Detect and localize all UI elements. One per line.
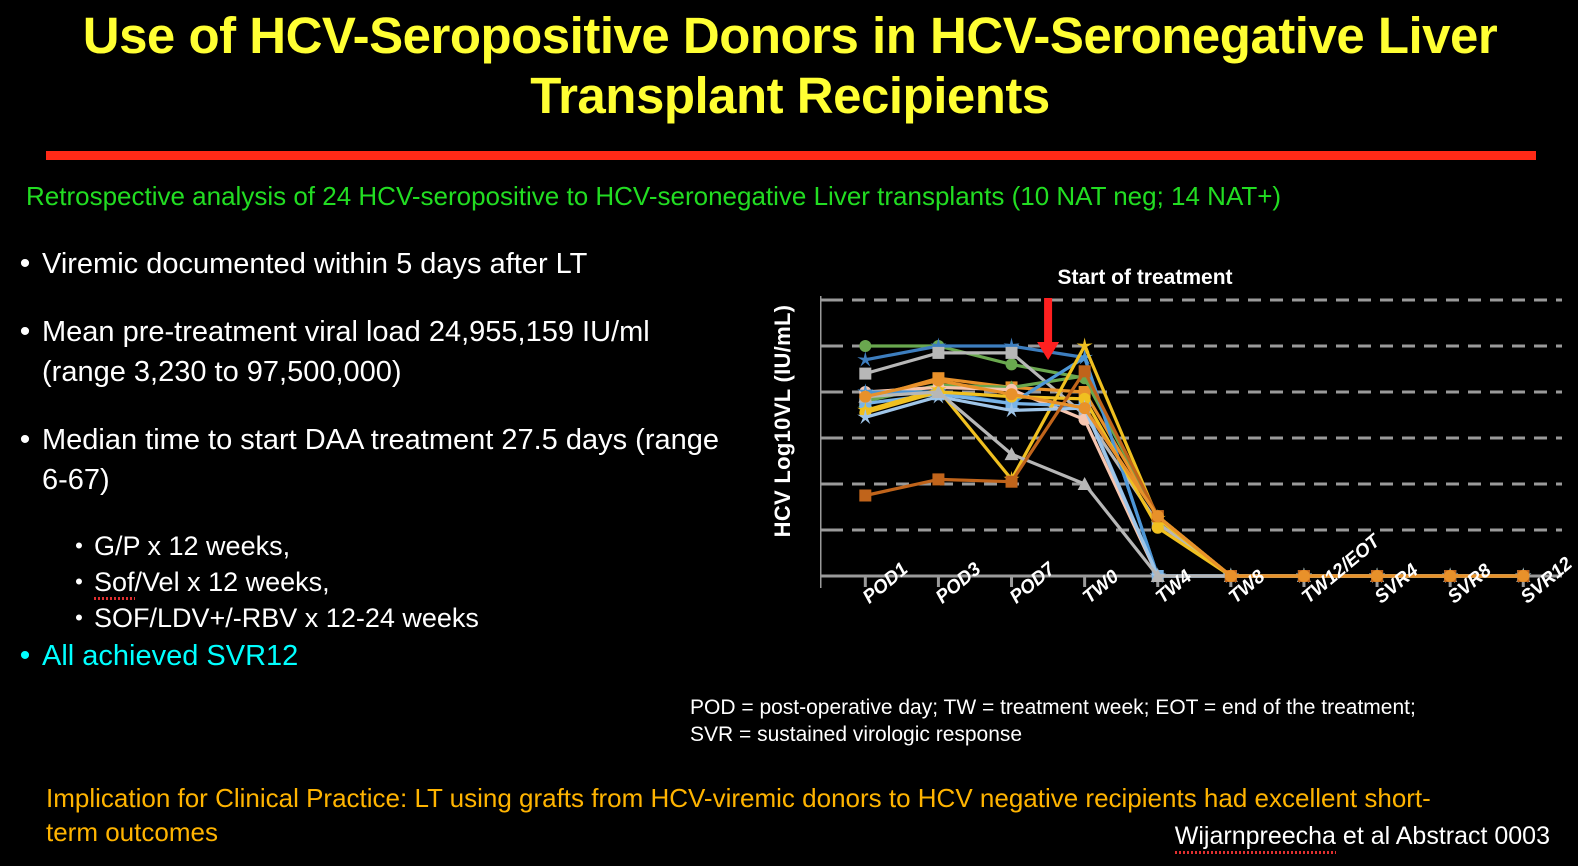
data-point-marker — [1006, 347, 1018, 359]
bullet-marker-icon: • — [64, 600, 94, 636]
bullet-marker-icon: • — [8, 420, 42, 460]
citation-text: Wijarnpreecha et al Abstract 0003 — [1175, 822, 1550, 851]
bullet-item: •All achieved SVR12 — [8, 636, 738, 676]
bullet-marker-icon: • — [64, 528, 94, 564]
bullet-marker-icon: • — [8, 312, 42, 352]
bullet-text: All achieved SVR12 — [42, 636, 738, 676]
series-line — [865, 358, 1523, 577]
bullet-item: •SOF/LDV+/-RBV x 12-24 weeks — [8, 600, 738, 636]
bullet-text: SOF/LDV+/-RBV x 12-24 weeks — [94, 600, 738, 636]
bullet-text: Sof/Vel x 12 weeks, — [94, 564, 738, 600]
plot-area — [820, 296, 1562, 586]
bullet-item: •Mean pre-treatment viral load 24,955,15… — [8, 312, 738, 392]
data-point-marker — [1298, 570, 1310, 582]
bullet-item: •Sof/Vel x 12 weeks, — [8, 564, 738, 600]
data-point-marker — [859, 368, 871, 380]
bullet-marker-icon: • — [8, 244, 42, 284]
data-point-marker — [859, 490, 871, 502]
data-point-marker — [1079, 365, 1091, 377]
chart-svg — [820, 296, 1562, 600]
data-point-marker — [1444, 570, 1456, 582]
data-point-marker — [1079, 402, 1091, 414]
data-point-marker — [1152, 510, 1164, 522]
series-line — [865, 381, 1523, 577]
bullet-marker-icon: • — [8, 636, 42, 676]
data-point-marker — [932, 473, 944, 485]
data-point-marker — [1006, 388, 1018, 400]
data-point-marker — [1152, 522, 1164, 534]
bullet-text: Mean pre-treatment viral load 24,955,159… — [42, 312, 738, 392]
citation-author: Wijarnpreecha — [1175, 822, 1336, 850]
chart-container: Start of treatment HCV Log10VL (IU/mL) P… — [745, 258, 1578, 678]
data-point-marker — [859, 391, 871, 403]
bullet-text: Viremic documented within 5 days after L… — [42, 244, 738, 284]
slide-subtitle: Retrospective analysis of 24 HCV-seropos… — [26, 180, 1566, 212]
slide-root: Use of HCV-Seropositive Donors in HCV-Se… — [0, 0, 1578, 866]
bullet-item: •Median time to start DAA treatment 27.5… — [8, 420, 738, 500]
bullet-item: •Viremic documented within 5 days after … — [8, 244, 738, 284]
footnote-line-1: POD = post-operative day; TW = treatment… — [690, 694, 1560, 721]
title-underline-rule — [46, 151, 1536, 160]
data-point-marker — [932, 375, 944, 387]
bullet-text: Median time to start DAA treatment 27.5 … — [42, 420, 738, 500]
x-axis-tick-labels: POD1POD3POD7TW0TW4TW8TW12/EOTSVR4SVR8SVR… — [820, 588, 1562, 678]
bullet-list: •Viremic documented within 5 days after … — [8, 244, 738, 704]
data-point-marker — [932, 347, 944, 359]
chart-annotation-start-of-treatment: Start of treatment — [985, 266, 1305, 290]
citation-reference: et al Abstract 0003 — [1336, 822, 1550, 850]
y-axis-label: HCV Log10VL (IU/mL) — [770, 291, 796, 551]
footnote-line-2: SVR = sustained virologic response — [690, 721, 1560, 748]
chart-footnote: POD = post-operative day; TW = treatment… — [690, 694, 1560, 748]
page-title: Use of HCV-Seropositive Donors in HCV-Se… — [60, 6, 1520, 126]
data-point-marker — [1371, 570, 1383, 582]
bullet-item: •G/P x 12 weeks, — [8, 528, 738, 564]
bullet-text: G/P x 12 weeks, — [94, 528, 738, 564]
data-point-marker — [1006, 358, 1018, 370]
bullet-marker-icon: • — [64, 564, 94, 600]
data-point-marker — [1225, 570, 1237, 582]
data-point-marker — [859, 340, 871, 352]
data-point-marker — [1006, 476, 1018, 488]
data-point-marker — [1517, 570, 1529, 582]
spellcheck-underline: Sof — [94, 567, 135, 597]
